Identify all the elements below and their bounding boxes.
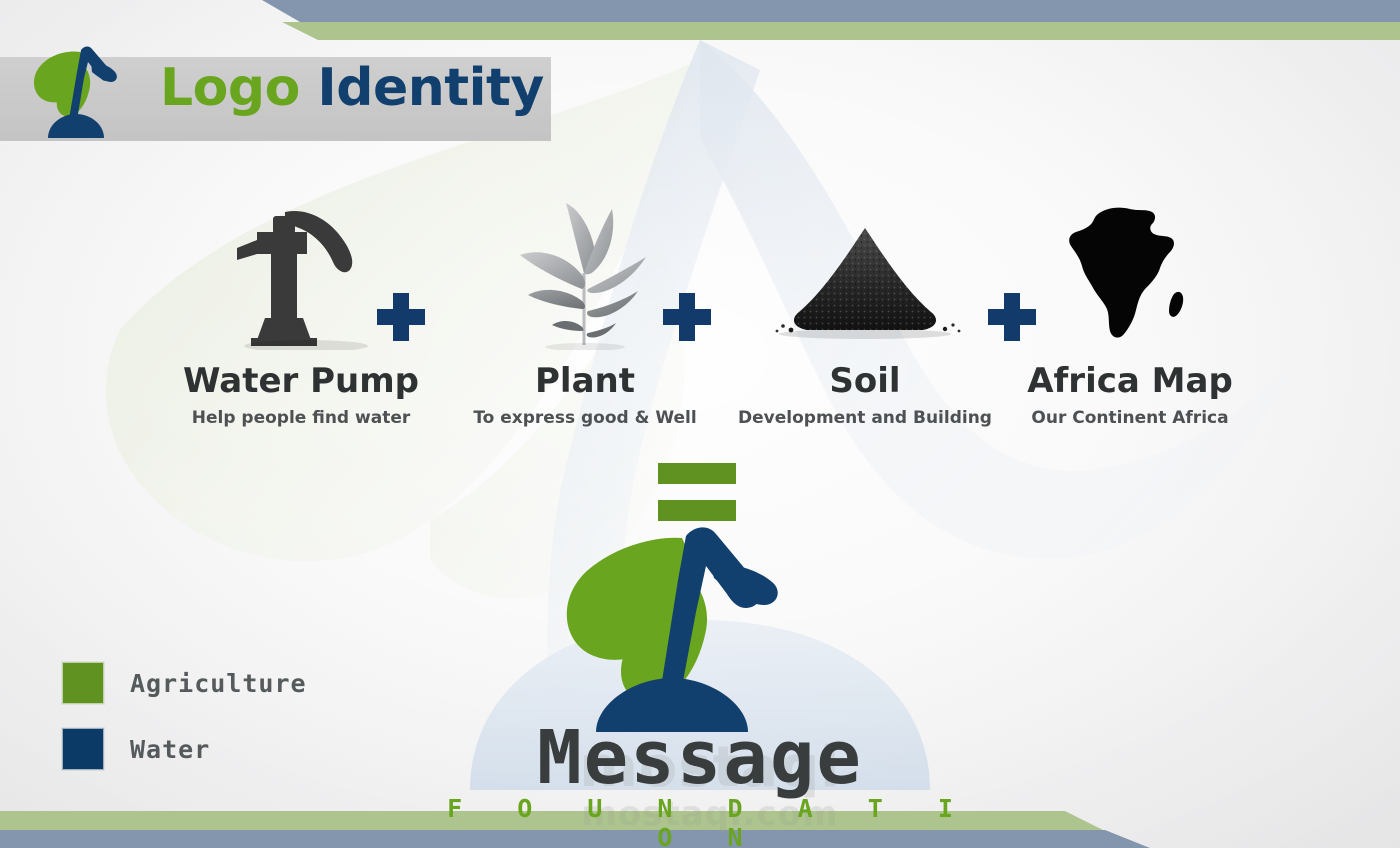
result-logo-subwordmark: F O U N D A T I O N bbox=[410, 794, 990, 848]
result-logo-wordmark-group: Message F O U N D A T I O N bbox=[410, 725, 990, 848]
equation-item-africa-map: Africa Map Our Continent Africa bbox=[945, 190, 1315, 428]
result-logo: Message F O U N D A T I O N bbox=[410, 520, 990, 830]
legend: Agriculture Water bbox=[62, 662, 307, 794]
water-swatch bbox=[62, 728, 104, 770]
page-title: Logo Identity bbox=[160, 62, 544, 114]
legend-label: Agriculture bbox=[130, 669, 307, 698]
header: Logo Identity bbox=[0, 28, 544, 148]
agriculture-swatch bbox=[62, 662, 104, 704]
result-logo-wordmark: Message bbox=[410, 725, 990, 792]
page-title-logo: Logo bbox=[160, 58, 300, 118]
legend-item-water: Water bbox=[62, 728, 307, 770]
africa-map-icon bbox=[945, 190, 1315, 350]
header-logo-icon bbox=[18, 32, 138, 144]
equation-row: Water Pump Help people find water bbox=[0, 180, 1400, 430]
legend-item-agriculture: Agriculture bbox=[62, 662, 307, 704]
page-title-identity: Identity bbox=[317, 58, 543, 118]
item-description: Our Continent Africa bbox=[945, 408, 1315, 428]
legend-label: Water bbox=[130, 735, 210, 764]
equals-operator bbox=[658, 463, 736, 521]
slide-canvas: Logo Identity bbox=[0, 0, 1400, 848]
result-logo-mark-sprout-water-pump-icon bbox=[530, 520, 850, 735]
item-label: Africa Map bbox=[945, 364, 1315, 398]
